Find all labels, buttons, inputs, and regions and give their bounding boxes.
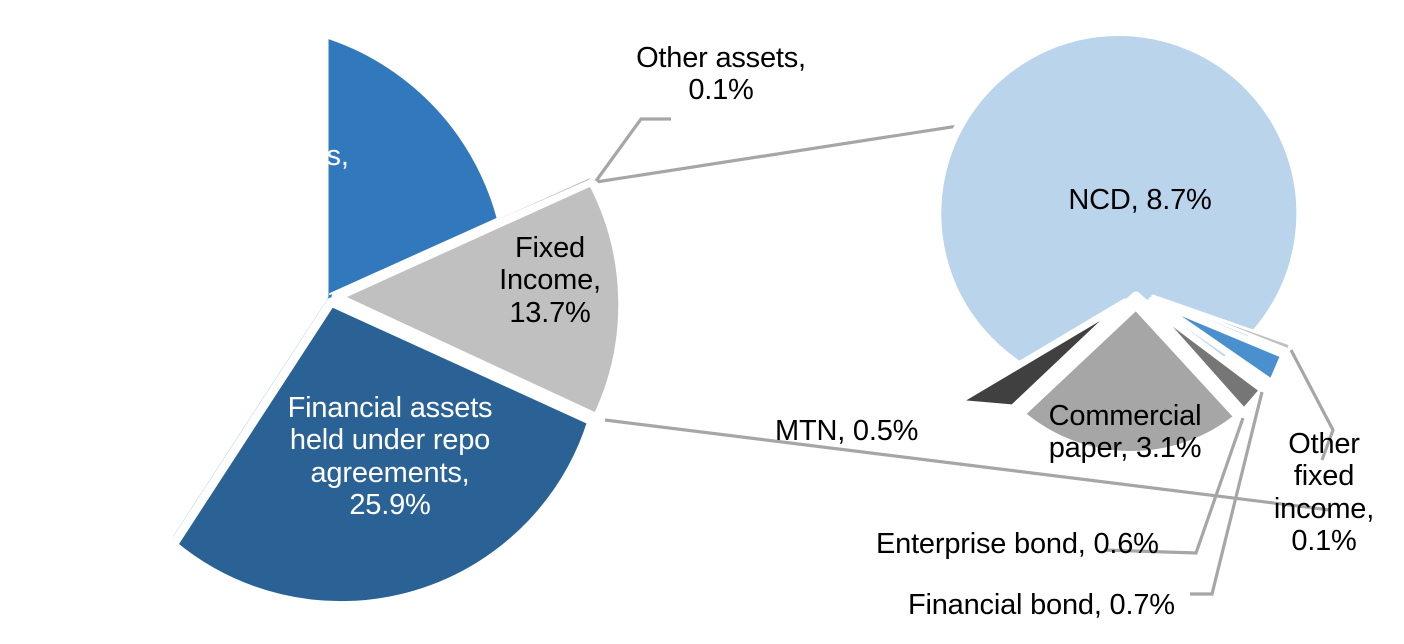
label-enterprise-bond: Enterprise bond, 0.6% [876,528,1216,560]
secondary-pie [937,31,1301,455]
label-other-fixed-income: Other fixed income, 0.1% [1254,428,1394,558]
pie-of-pie-chart: Bank deposits, 60.3% Financial assets he… [0,0,1404,644]
label-other-assets: Other assets, 0.1% [596,42,846,107]
label-mtn: MTN, 0.5% [775,415,965,447]
label-financial-bond: Financial bond, 0.7% [908,589,1248,621]
label-fixed-income: Fixed Income, 13.7% [470,232,630,329]
label-ncd: NCD, 8.7% [1040,184,1240,216]
label-repo-agreements: Financial assets held under repo agreeme… [255,392,525,522]
label-commercial-paper: Commercial paper, 3.1% [1025,400,1225,465]
label-bank-deposits: Bank deposits, 60.3% [130,140,380,205]
